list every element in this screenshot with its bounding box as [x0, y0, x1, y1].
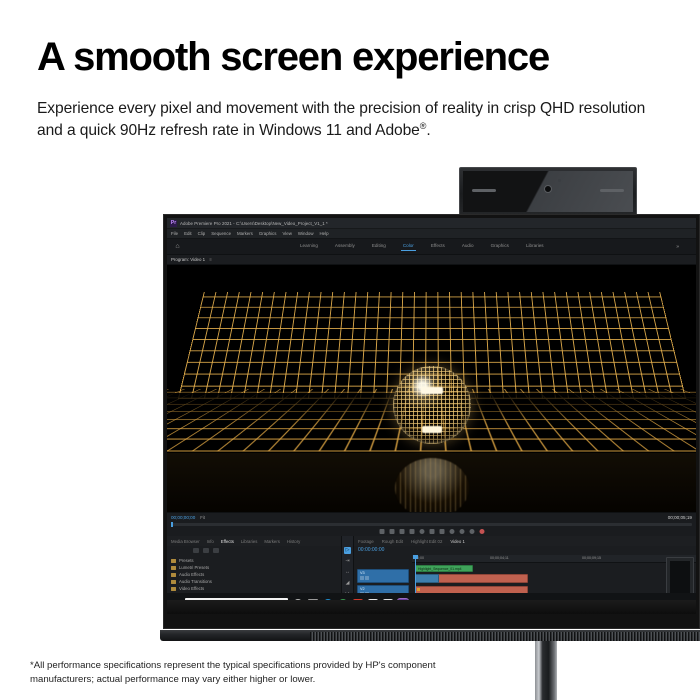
workspace-tab-libraries[interactable]: Libraries [526, 243, 544, 251]
monitor-scrubber[interactable] [171, 523, 692, 526]
table-row[interactable] [415, 574, 439, 583]
bezel-chin [167, 600, 696, 614]
webcam-vent-left [472, 189, 496, 192]
track-headers: V3 V2 V1 [354, 555, 412, 593]
pop-up-webcam-module [459, 167, 637, 215]
timeline-panel: Footage Rough Edit Highlight Edit 02 Vid… [354, 536, 696, 593]
vent-hatch [310, 632, 700, 641]
tab-history[interactable]: History [287, 539, 300, 544]
subcopy-period: . [426, 122, 430, 139]
workspace-tab-color[interactable]: Color [403, 243, 414, 251]
step-back-button[interactable] [409, 529, 414, 534]
sphere-reflection [395, 458, 469, 512]
export-frame-button[interactable] [469, 529, 474, 534]
monitor-base-bar [160, 630, 700, 641]
track-lock-icon[interactable] [365, 576, 369, 580]
premiere-pro-window: Pr Adobe Premiere Pro 2021 - C:\Users\De… [167, 218, 696, 614]
workspace-tab-audio[interactable]: Audio [462, 243, 474, 251]
footnote: *All performance specifications represen… [30, 659, 500, 688]
transport-buttons [379, 529, 484, 534]
track-toggles[interactable] [358, 576, 408, 580]
menu-item-help[interactable]: Help [320, 231, 329, 236]
sequence-tab-video-1[interactable]: Video 1 [450, 539, 465, 544]
program-monitor-tab[interactable]: Program: Video 1 [171, 257, 205, 262]
workspace-tab-assembly[interactable]: Assembly [335, 243, 355, 251]
sequence-tab-highlight-edit[interactable]: Highlight Edit 02 [411, 539, 442, 544]
menu-item-edit[interactable]: Edit [184, 231, 192, 236]
folder-icon [171, 580, 176, 584]
page-root: A smooth screen experience Experience ev… [0, 0, 700, 700]
workspace-overflow-icon[interactable]: » [676, 244, 680, 250]
workspace-tabs: Learning Assembly Editing Color Effects … [300, 243, 544, 251]
track-select-tool-icon[interactable]: ⇥ [344, 558, 351, 565]
monitor-bezel: Pr Adobe Premiere Pro 2021 - C:\Users\De… [163, 214, 700, 629]
play-pause-button[interactable] [419, 529, 424, 534]
track-eye-icon[interactable] [360, 576, 364, 580]
glass-sphere [393, 366, 471, 444]
menu-item-view[interactable]: View [282, 231, 291, 236]
playhead-handle[interactable] [413, 555, 418, 559]
folder-icon [171, 559, 176, 563]
monitor-transport: 00;00;00;00 Fit 00;00;05;19 [167, 512, 696, 536]
workspace-tab-editing[interactable]: Editing [372, 243, 386, 251]
timeline-tabs: Footage Rough Edit Highlight Edit 02 Vid… [354, 536, 696, 546]
ruler-mark: 00;00;04;11 [490, 556, 509, 560]
list-item-label: Lumetri Presets [179, 565, 209, 570]
tab-markers[interactable]: Markers [264, 539, 280, 544]
effects-panel: Media Browser Info Effects Libraries Mar… [167, 536, 342, 593]
fit-selector[interactable]: Fit [200, 515, 205, 520]
menu-item-markers[interactable]: Markers [237, 231, 253, 236]
app-title: Adobe Premiere Pro 2021 - C:\Users\Deskt… [180, 221, 328, 226]
razor-tool-icon[interactable]: ◢ [344, 580, 351, 587]
filter-accelerated-icon[interactable] [193, 548, 199, 553]
sequence-tab-rough-edit[interactable]: Rough Edit [382, 539, 403, 544]
page-title: A smooth screen experience [37, 36, 677, 78]
menu-item-graphics[interactable]: Graphics [259, 231, 277, 236]
lift-button[interactable] [449, 529, 454, 534]
premiere-pro-logo-icon: Pr [170, 220, 177, 227]
effects-filter-row [167, 546, 341, 555]
list-item[interactable]: Video Effects [171, 585, 341, 592]
timeline-tracks-area[interactable]: Highlight_Sequence_01.mp4 [412, 563, 696, 593]
sequence-tab-footage[interactable]: Footage [358, 539, 374, 544]
extract-button[interactable] [459, 529, 464, 534]
folder-icon [171, 587, 176, 591]
page-subcopy: Experience every pixel and movement with… [37, 98, 665, 142]
record-button[interactable] [479, 529, 484, 534]
clip-marker-icon [417, 588, 420, 591]
list-item[interactable]: Audio Effects [171, 571, 341, 578]
menu-item-window[interactable]: Window [298, 231, 314, 236]
duration-timecode: 00;00;05;19 [668, 515, 692, 520]
folder-icon [171, 573, 176, 577]
current-timecode[interactable]: 00;00;00;00 [171, 515, 195, 520]
folder-icon [171, 566, 176, 570]
track-header-v3[interactable]: V3 [357, 569, 409, 583]
sphere-rim [393, 366, 471, 444]
monitor-product-shot: Pr Adobe Premiere Pro 2021 - C:\Users\De… [163, 214, 700, 642]
list-item-label: Presets [179, 558, 194, 563]
timeline-ruler[interactable]: 00;00 00;00;04;11 00;00;09;15 [412, 555, 696, 563]
workspace-tab-learning[interactable]: Learning [300, 243, 318, 251]
ripple-edit-tool-icon[interactable]: ↔ [344, 569, 351, 576]
tab-effects[interactable]: Effects [221, 539, 234, 544]
program-monitor-viewer[interactable] [167, 265, 696, 512]
workspace-tab-effects[interactable]: Effects [431, 243, 445, 251]
list-item-label: Video Effects [179, 586, 204, 591]
webcam-indicator-icon [558, 179, 561, 182]
list-item[interactable]: Audio Transitions [171, 578, 341, 585]
go-to-out-button[interactable] [439, 529, 444, 534]
selection-tool-icon[interactable]: ▷ [344, 547, 351, 554]
webcam-vent-right [600, 189, 624, 192]
workspace-tab-graphics[interactable]: Graphics [491, 243, 509, 251]
program-monitor-tabs: Program: Video 1 ≡ [167, 255, 696, 265]
menu-item-sequence[interactable]: Sequence [211, 231, 231, 236]
list-item[interactable]: Presets [171, 557, 341, 564]
menu-item-clip[interactable]: Clip [198, 231, 206, 236]
lower-panels: Media Browser Info Effects Libraries Mar… [167, 536, 696, 593]
list-item-label: Audio Effects [179, 572, 204, 577]
webcam-lens-icon [544, 185, 552, 193]
menu-item-file[interactable]: File [171, 231, 178, 236]
timecode-row: 00;00;00;00 Fit 00;00;05;19 [167, 513, 696, 522]
tab-libraries[interactable]: Libraries [241, 539, 257, 544]
workspace-bar: ⌂ Learning Assembly Editing Color Effect… [167, 239, 696, 255]
effects-panel-tabs: Media Browser Info Effects Libraries Mar… [167, 536, 341, 546]
tab-info[interactable]: Info [207, 539, 214, 544]
home-icon[interactable]: ⌂ [173, 242, 182, 251]
mark-in-button[interactable] [379, 529, 384, 534]
go-to-in-button[interactable] [399, 529, 404, 534]
tab-media-browser[interactable]: Media Browser [171, 539, 200, 544]
monitor-stand [535, 641, 557, 700]
program-monitor-menu-icon[interactable]: ≡ [209, 257, 212, 262]
app-menubar[interactable]: File Edit Clip Sequence Markers Graphics… [167, 229, 696, 239]
timeline-timecode[interactable]: 00:00:00:00 [358, 547, 384, 553]
table-row[interactable]: Highlight_Sequence_01.mp4 [415, 565, 473, 572]
ruler-mark: 00;00;09;15 [582, 556, 601, 560]
app-titlebar: Pr Adobe Premiere Pro 2021 - C:\Users\De… [167, 218, 696, 229]
subcopy-text: Experience every pixel and movement with… [37, 100, 645, 139]
mark-out-button[interactable] [389, 529, 394, 534]
program-monitor-panel: Program: Video 1 ≡ [167, 255, 696, 536]
filter-ycbcr-icon[interactable] [213, 548, 219, 553]
filter-32bit-icon[interactable] [203, 548, 209, 553]
list-item-label: Audio Transitions [179, 579, 212, 584]
list-item[interactable]: Lumetri Presets [171, 564, 341, 571]
timeline-playhead[interactable] [415, 555, 416, 593]
tools-panel: ▷ ⇥ ↔ ◢ ↦ ✎ ✋ ⚲ [342, 536, 354, 593]
scrubber-playhead[interactable] [171, 522, 173, 527]
monitor-screen: Pr Adobe Premiere Pro 2021 - C:\Users\De… [167, 218, 696, 614]
rendered-scene [167, 265, 696, 512]
step-forward-button[interactable] [429, 529, 434, 534]
clip-label: Highlight_Sequence_01.mp4 [416, 566, 472, 572]
